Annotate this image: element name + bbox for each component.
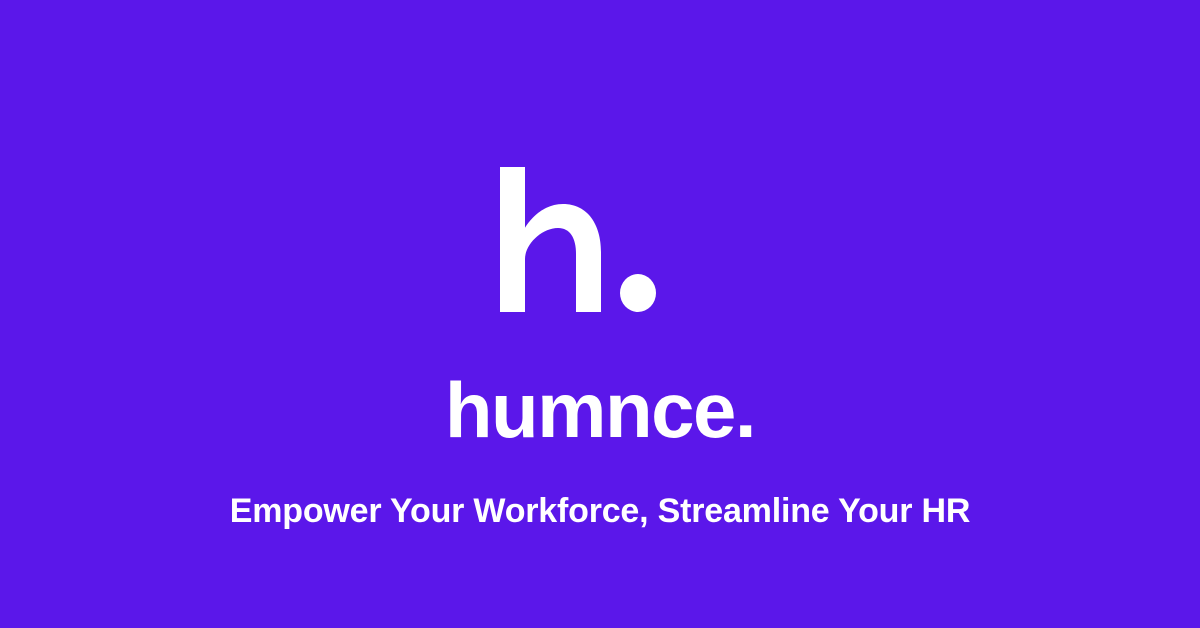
wordmark: humnce.	[0, 367, 1200, 453]
logo-mark	[0, 160, 1200, 320]
tagline: Empower Your Workforce, Streamline Your …	[0, 490, 1200, 532]
brand-card: humnce. Empower Your Workforce, Streamli…	[0, 0, 1200, 628]
humnce-h-dot-logomark-icon	[500, 160, 700, 320]
